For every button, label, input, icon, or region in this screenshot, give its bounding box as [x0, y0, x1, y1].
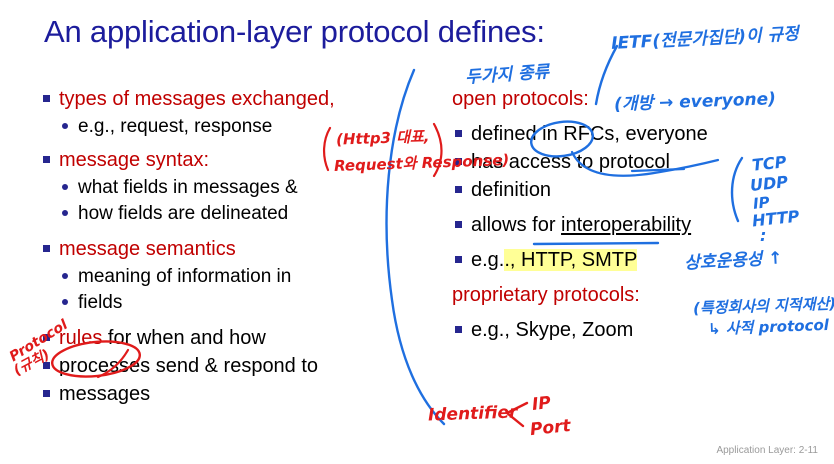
- red-paren-close-http3: [434, 124, 442, 176]
- bullet-text: types of messages exchanged,: [59, 88, 335, 110]
- right-column: open protocols: defined in RFCs, everyon…: [452, 86, 782, 345]
- ink-annotation-ietf: IETF(전문가집단)이 규정: [610, 19, 799, 54]
- subbullet-text: how fields are delineated: [78, 203, 288, 224]
- subbullet-what-fields-cont: how fields are delineated: [40, 201, 410, 226]
- bullet-rules: rules for when and how: [40, 325, 410, 351]
- bullet-rules-line3: messages: [40, 381, 410, 407]
- spacer: [40, 316, 410, 325]
- bullet-rfcs-line3: definition: [452, 177, 782, 203]
- bullet-text: messages: [59, 383, 150, 405]
- bullet-rfcs-line2: has access to protocol: [452, 149, 782, 175]
- subbullet-what-fields: what fields in messages &: [40, 175, 410, 200]
- ink-annotation-two-kinds: 두가지 종류: [464, 57, 550, 88]
- bullet-text: e.g., Skype, Zoom: [471, 319, 633, 341]
- spacer: [452, 114, 782, 121]
- bullet-text: message syntax:: [59, 149, 209, 171]
- left-column: types of messages exchanged, e.g., reque…: [40, 86, 410, 409]
- slide-footer: Application Layer: 2-11: [716, 445, 818, 456]
- bullet-text-prefix: allows for: [471, 214, 561, 236]
- bullet-text: processes send & respond to: [59, 355, 318, 377]
- bullet-eg-skype-zoom: e.g., Skype, Zoom: [452, 317, 782, 343]
- bullet-message-semantics: message semantics: [40, 236, 410, 262]
- subbullet-meaning-of-information: meaning of information in: [40, 264, 410, 289]
- spacer: [452, 240, 782, 247]
- spacer: [40, 227, 410, 236]
- highlighted-http-smtp: ., HTTP, SMTP: [504, 249, 637, 271]
- bullet-text: definition: [471, 179, 551, 201]
- spacer: [40, 140, 410, 147]
- spacer: [452, 275, 782, 282]
- bullet-text: message semantics: [59, 238, 236, 260]
- bullet-text: has access to protocol: [471, 151, 670, 173]
- bullet-types-of-messages: types of messages exchanged,: [40, 86, 410, 112]
- red-bracket-identifier: [507, 403, 527, 426]
- heading-open-protocols: open protocols:: [452, 86, 782, 112]
- ink-annotation-identifier-port: Port: [529, 416, 572, 440]
- ink-annotation-identifier: Identifier: [428, 402, 518, 425]
- spacer: [452, 310, 782, 317]
- bullet-rules-line2: processes send & respond to: [40, 353, 410, 379]
- subbullet-text: what fields in messages &: [78, 177, 298, 198]
- bullet-text-prefix: e.g.: [471, 249, 504, 271]
- rules-tail: for when and how: [102, 327, 265, 349]
- bullet-defined-in-rfcs: defined in RFCs, everyone: [452, 121, 782, 147]
- slide-canvas: An application-layer protocol defines: t…: [0, 0, 834, 464]
- bullet-eg-http-smtp: e.g.., HTTP, SMTP: [452, 247, 782, 273]
- bullet-message-syntax: message syntax:: [40, 147, 410, 173]
- subbullet-text: e.g., request, response: [78, 116, 272, 137]
- subbullet-request-response: e.g., request, response: [40, 114, 410, 139]
- bullet-interoperability: allows for interoperability: [452, 212, 782, 238]
- subbullet-meaning-cont: fields: [40, 290, 410, 315]
- ink-annotation-identifier-ip: IP: [531, 393, 552, 415]
- subbullet-text: fields: [78, 292, 122, 313]
- interoperability-underlined: interoperability: [561, 214, 691, 236]
- spacer: [452, 205, 782, 212]
- heading-proprietary-protocols: proprietary protocols:: [452, 282, 782, 308]
- rules-keyword: rules: [59, 327, 102, 349]
- bullet-text: defined in RFCs, everyone: [471, 123, 708, 145]
- subbullet-text: meaning of information in: [78, 266, 291, 287]
- page-title: An application-layer protocol defines:: [44, 12, 545, 52]
